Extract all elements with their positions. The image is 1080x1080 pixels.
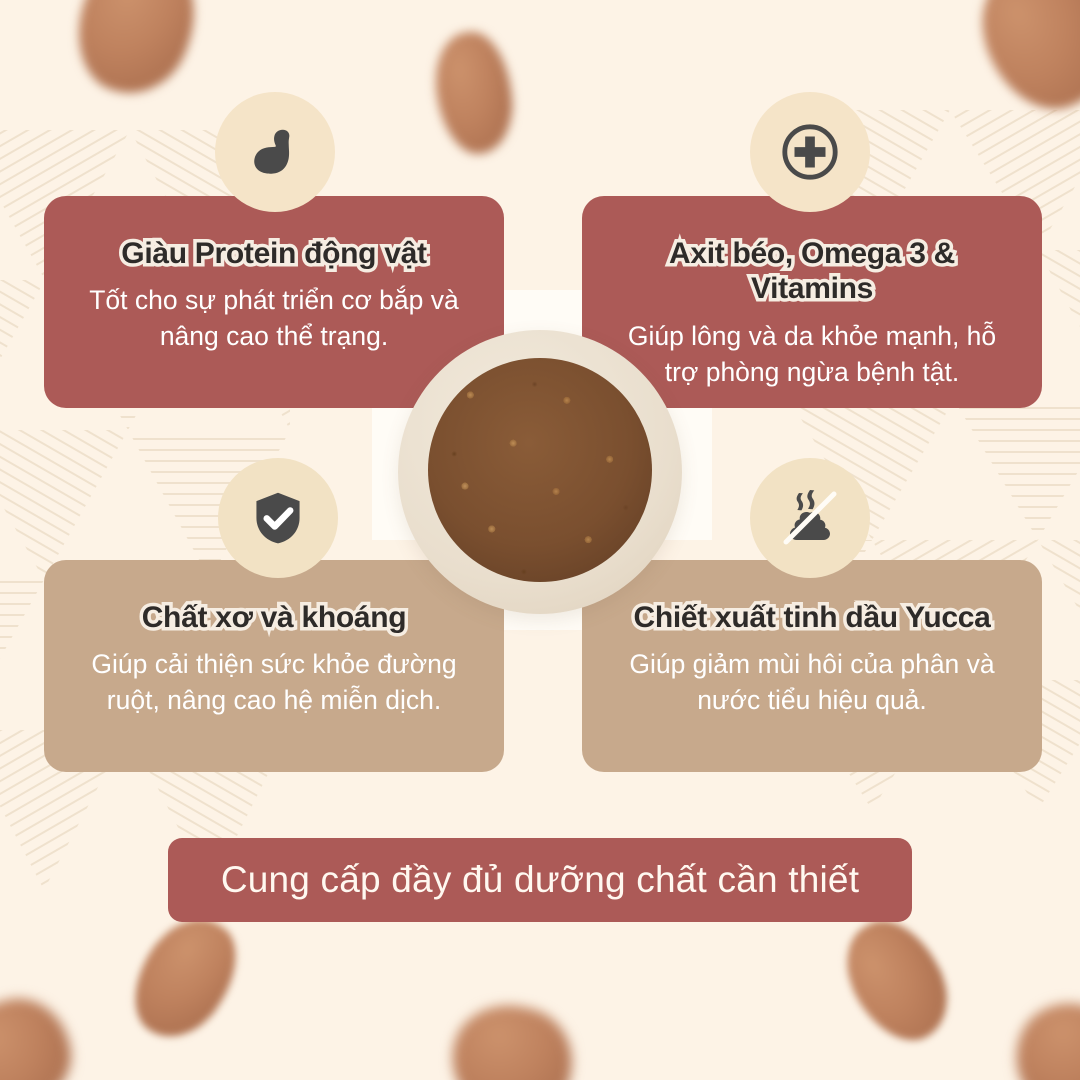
feature-icon-badge-protein xyxy=(215,92,335,212)
medical-cross-circle-icon xyxy=(779,121,841,183)
summary-banner: Cung cấp đầy đủ dưỡng chất cần thiết xyxy=(168,838,912,922)
feature-title: Axit béo, Omega 3 & Vitamins xyxy=(608,236,1016,307)
shield-check-icon xyxy=(248,488,308,548)
decor-kibble-piece xyxy=(962,0,1080,127)
no-odor-icon xyxy=(778,486,842,550)
feature-description: Giúp cải thiện sức khỏe đường ruột, nâng… xyxy=(70,647,478,719)
feature-description: Giúp giảm mùi hôi của phân và nước tiểu … xyxy=(608,647,1016,719)
kibble-pile xyxy=(428,358,652,582)
summary-banner-text: Cung cấp đầy đủ dưỡng chất cần thiết xyxy=(221,859,859,901)
decor-kibble-piece xyxy=(0,987,83,1080)
decor-kibble-piece xyxy=(828,905,965,1057)
feature-icon-badge-fiber xyxy=(218,458,338,578)
decor-kibble-piece xyxy=(442,995,582,1080)
muscle-flex-icon xyxy=(244,121,306,183)
feature-icon-badge-omega xyxy=(750,92,870,212)
feature-title: Giàu Protein động vật xyxy=(70,236,478,271)
decor-kibble-piece xyxy=(429,27,519,158)
decor-kibble-piece xyxy=(61,0,211,108)
infographic-poster: Giàu Protein động vật Tốt cho sự phát tr… xyxy=(0,0,1080,1080)
decor-kibble-piece xyxy=(1001,988,1080,1080)
decor-kibble-piece xyxy=(115,902,255,1054)
kibble-bowl-image xyxy=(398,330,682,614)
feature-icon-badge-yucca xyxy=(750,458,870,578)
